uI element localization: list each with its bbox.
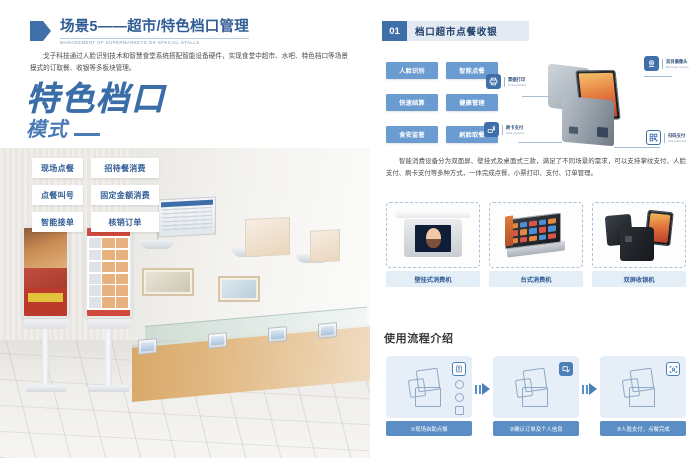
- scene-pendant-lamp: [140, 240, 174, 249]
- callout-text: 刷卡支付 Card payment: [502, 125, 524, 135]
- callout-label-en: Binocular camera: [666, 65, 689, 69]
- callout-printer: 票据打印 Ticket printing: [486, 74, 526, 89]
- arrow-right-icon: [472, 383, 493, 395]
- scene-framed-art: [218, 276, 260, 302]
- feature-tag[interactable]: 人脸识别: [386, 62, 438, 79]
- pos-line-art-icon: [514, 365, 558, 409]
- header-texts: 场景5——超市/特色档口管理 MANAGEMENT OF SUPERMARKET…: [60, 19, 249, 45]
- callout-text: 票据打印 Ticket printing: [504, 77, 526, 87]
- order-check-icon: [559, 362, 573, 376]
- arrow-right-icon: [30, 21, 51, 41]
- scene-tag[interactable]: 固定金额消费: [91, 185, 159, 205]
- dual-screen-pos-illustration: [548, 62, 644, 144]
- scene-tag[interactable]: 智能接单: [32, 212, 83, 232]
- scene-tag-list: 现场点餐 招待餐消费 点餐叫号 固定金额消费 智能接单 核销订单: [32, 158, 159, 232]
- flow-step-illustration: [600, 356, 686, 418]
- device-card-list: 壁挂式消费机 台式消费机: [386, 202, 686, 287]
- device-card-label: 台式消费机: [489, 271, 583, 287]
- device-diagram: 票据打印 Ticket printing 双目摄像头 Binocular cam…: [496, 52, 696, 152]
- kiosk-base: [24, 319, 68, 329]
- flow-step-label: ②确认订单及个人信息: [493, 421, 579, 436]
- device-card-label: 双屏收银机: [592, 271, 686, 287]
- flow-steps: ①现场自助点餐 ②确认订单及个人信息: [386, 356, 686, 436]
- device-card[interactable]: 双屏收银机: [592, 202, 686, 287]
- pos-line-art-icon: [407, 365, 451, 409]
- feature-tag[interactable]: 快速结算: [386, 94, 438, 111]
- callout-label-en: Scan payment: [668, 139, 686, 143]
- scene-counter-terminal: [268, 326, 287, 343]
- pos-body: [562, 96, 614, 147]
- callout-leader-line: [614, 147, 660, 148]
- device-image-box: [386, 202, 480, 268]
- intro-paragraph: 戈子科技通过人脸识别技术和智慧食堂系统搭配智能设备硬件，实现食堂中超市、水吧、特…: [30, 51, 348, 75]
- dual-screen-pos-icon: [604, 209, 674, 261]
- callout-camera: 双目摄像头 Binocular camera: [644, 56, 689, 71]
- printer-icon: [486, 74, 501, 89]
- wall-mounted-terminal-icon: [396, 211, 470, 259]
- scene-tag[interactable]: 点餐叫号: [32, 185, 83, 205]
- desktop-terminal-icon: [501, 214, 571, 256]
- big-title: 特色档口 模式: [26, 82, 166, 140]
- option-dots-icon: [455, 380, 464, 415]
- flow-step[interactable]: ①现场自助点餐: [386, 356, 472, 436]
- device-image-box: [592, 202, 686, 268]
- face-scan-icon: [666, 362, 680, 376]
- scene-kiosk-right: [85, 226, 132, 392]
- section-number: 01: [382, 21, 407, 41]
- title-underline-dash: [74, 133, 100, 136]
- callout-label-en: Ticket printing: [508, 83, 526, 87]
- section-title: 档口超市点餐收银: [407, 21, 529, 41]
- flow-step-label: ③人脸支付，点餐完成: [600, 421, 686, 436]
- flow-step-label: ①现场自助点餐: [386, 421, 472, 436]
- scene-kiosk-left: [22, 226, 69, 392]
- scene-tag[interactable]: 现场点餐: [32, 158, 83, 178]
- callout-text: 扫码支付 Scan payment: [664, 133, 686, 143]
- feature-tag[interactable]: 健康管理: [446, 94, 498, 111]
- flow-step-illustration: [386, 356, 472, 418]
- scene-counter-terminal: [208, 332, 227, 349]
- left-column: 场景5——超市/特色档口管理 MANAGEMENT OF SUPERMARKET…: [0, 0, 370, 465]
- flow-step-illustration: [493, 356, 579, 418]
- device-card[interactable]: 台式消费机: [489, 202, 583, 287]
- pos-line-art-icon: [621, 365, 665, 409]
- scene-framed-art: [142, 268, 194, 296]
- scene-tag[interactable]: 招待餐消费: [91, 158, 159, 178]
- scene-menu-board: [158, 196, 216, 237]
- arrow-right-icon: [579, 383, 600, 395]
- kiosk-stem: [105, 329, 112, 385]
- right-column: 01 档口超市点餐收银 人脸识别 智能点餐 快速结算 健康管理 食安监管 刷脸取…: [370, 0, 700, 465]
- callout-qrcode: 扫码支付 Scan payment: [646, 130, 686, 145]
- kiosk-screen: [22, 226, 69, 318]
- device-card[interactable]: 壁挂式消费机: [386, 202, 480, 287]
- menu-list-icon: [452, 362, 466, 376]
- section-header: 场景5——超市/特色档口管理 MANAGEMENT OF SUPERMARKET…: [30, 19, 249, 45]
- kiosk-foot: [89, 385, 129, 392]
- kiosk-base: [87, 319, 131, 329]
- kiosk-screen: [85, 226, 132, 318]
- big-title-line1: 特色档口: [26, 82, 166, 117]
- callout-leader-line: [644, 76, 672, 77]
- callout-text: 双目摄像头 Binocular camera: [662, 59, 689, 69]
- scene-wall-poster: [245, 217, 290, 257]
- callout-nfc: 刷卡支付 Card payment: [484, 122, 524, 137]
- scene-counter-terminal: [138, 338, 157, 355]
- flow-section-title: 使用流程介绍: [384, 330, 454, 346]
- page-title: 场景5——超市/特色档口管理: [60, 19, 249, 36]
- page-root: 场景5——超市/特色档口管理 MANAGEMENT OF SUPERMARKET…: [0, 0, 700, 465]
- section-01-header: 01 档口超市点餐收银: [382, 21, 529, 41]
- scene-tag[interactable]: 核销订单: [91, 212, 159, 232]
- callout-leader-line: [518, 142, 562, 143]
- scene-wall-poster: [310, 229, 340, 263]
- nfc-icon: [484, 122, 499, 137]
- flow-step[interactable]: ③人脸支付，点餐完成: [600, 356, 686, 436]
- kiosk-foot: [26, 385, 66, 392]
- flow-step[interactable]: ②确认订单及个人信息: [493, 356, 579, 436]
- device-card-label: 壁挂式消费机: [386, 271, 480, 287]
- camera-icon: [644, 56, 659, 71]
- qrcode-icon: [646, 130, 661, 145]
- description-paragraph: 智能消费设备分为双面屏、壁挂式及桌面式三款，满足了不同场景的需求，可以支持掌纹支…: [386, 156, 686, 180]
- big-title-line2: 模式: [26, 118, 68, 140]
- feature-tag[interactable]: 食安监管: [386, 126, 438, 143]
- page-subtitle: MANAGEMENT OF SUPERMARKETS OR SPECIAL ST…: [60, 38, 249, 46]
- callout-leader-line: [522, 96, 552, 97]
- big-title-line2-row: 模式: [26, 118, 166, 140]
- kiosk-stem: [42, 329, 49, 385]
- callout-label-en: Card payment: [506, 131, 524, 135]
- scene-counter-terminal: [318, 322, 337, 339]
- device-image-box: [489, 202, 583, 268]
- feature-tag-list: 人脸识别 智能点餐 快速结算 健康管理 食安监管 刷脸取餐: [386, 62, 498, 143]
